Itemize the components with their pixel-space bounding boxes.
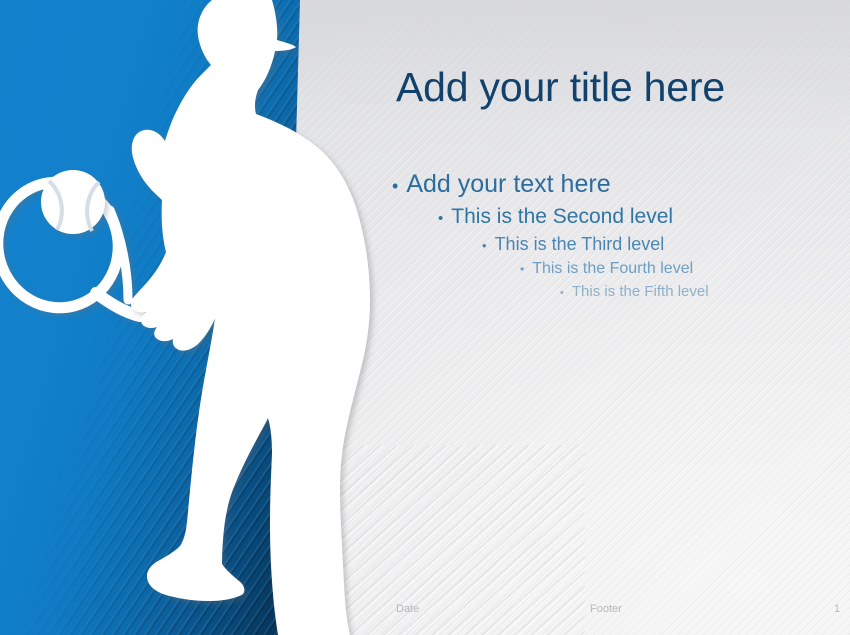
slide-canvas: Add your title here • Add your text here… xyxy=(0,0,850,635)
body-text-placeholder[interactable]: • Add your text here • This is the Secon… xyxy=(392,170,842,300)
bullet-glyph-icon: • xyxy=(560,288,564,299)
bullet-label: This is the Third level xyxy=(495,234,665,255)
bullet-label: This is the Fourth level xyxy=(532,260,693,278)
bullet-glyph-icon: • xyxy=(438,211,443,226)
bullet-glyph-icon: • xyxy=(520,263,524,275)
bullet-item-level-2[interactable]: • This is the Second level xyxy=(438,205,842,229)
bullet-item-level-4[interactable]: • This is the Fourth level xyxy=(520,260,842,278)
footer: Date Footer 1 xyxy=(0,597,850,635)
footer-page-number[interactable]: 1 xyxy=(834,603,840,615)
bullet-label: Add your text here xyxy=(406,170,610,199)
page-title[interactable]: Add your title here xyxy=(396,64,826,111)
bullet-item-level-3[interactable]: • This is the Third level xyxy=(482,234,842,255)
bullet-item-level-1[interactable]: • Add your text here xyxy=(392,170,842,199)
bullet-glyph-icon: • xyxy=(392,177,398,195)
bullet-glyph-icon: • xyxy=(482,239,487,252)
bullet-label: This is the Second level xyxy=(451,205,673,229)
footer-text-placeholder[interactable]: Footer xyxy=(590,603,622,615)
bullet-item-level-5[interactable]: • This is the Fifth level xyxy=(560,283,842,300)
bullet-label: This is the Fifth level xyxy=(572,283,709,300)
footer-date-placeholder[interactable]: Date xyxy=(396,603,419,615)
blue-panel-stripe-texture xyxy=(0,0,300,635)
blue-accent-panel xyxy=(0,0,300,635)
